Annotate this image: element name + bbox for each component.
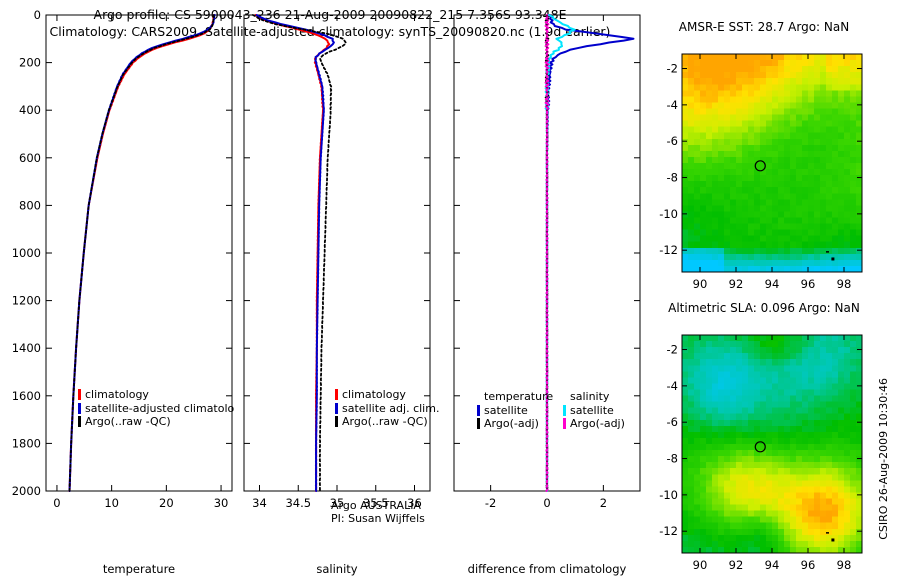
map-cell — [772, 115, 779, 122]
map-cell — [820, 347, 827, 354]
map-cell — [754, 474, 761, 481]
map-cell — [784, 224, 791, 231]
map-cell — [754, 517, 761, 524]
map-cell — [790, 523, 797, 530]
map-cell — [796, 175, 803, 182]
map-cell — [778, 230, 785, 237]
map-cell — [688, 390, 695, 397]
map-cell — [784, 480, 791, 487]
map-cell — [832, 121, 839, 128]
map-cell — [712, 78, 719, 85]
map-cell — [838, 102, 845, 109]
map-cell — [712, 353, 719, 360]
map-cell — [838, 211, 845, 218]
map-cell — [850, 169, 857, 176]
map-cell — [694, 78, 701, 85]
map-cell — [760, 175, 767, 182]
map-cell — [850, 480, 857, 487]
map-cell — [790, 450, 797, 457]
map-cell — [772, 499, 779, 506]
map-cell — [760, 456, 767, 463]
map-cell — [784, 254, 791, 261]
map-cell — [850, 230, 857, 237]
map-cell — [700, 127, 707, 134]
map-cell — [736, 205, 743, 212]
map-cell — [766, 60, 773, 67]
map-cell — [730, 121, 737, 128]
map-cell — [796, 115, 803, 122]
map-cell — [778, 432, 785, 439]
map-cell — [790, 151, 797, 158]
map-cell — [844, 169, 851, 176]
map-cell — [808, 353, 815, 360]
temperature-plot: 0102030020040060080010001200140016001800… — [0, 0, 250, 540]
map-cell — [724, 402, 731, 409]
map-cell — [850, 54, 857, 61]
map-cell — [706, 193, 713, 200]
map-cell — [784, 133, 791, 140]
map-cell — [718, 211, 725, 218]
legend-swatch-satellite-adjusted — [78, 403, 81, 414]
map-cell — [766, 205, 773, 212]
map-cell — [790, 468, 797, 475]
map-cell — [730, 78, 737, 85]
map-cell — [760, 341, 767, 348]
map-cell — [772, 517, 779, 524]
map-cell — [838, 218, 845, 225]
map-cell — [748, 420, 755, 427]
map-cell — [772, 157, 779, 164]
map-cell — [748, 230, 755, 237]
map-cell — [736, 408, 743, 415]
map-cell — [826, 408, 833, 415]
map-cell — [742, 115, 749, 122]
map-cell — [850, 426, 857, 433]
map-cell — [820, 242, 827, 249]
map-cell — [784, 211, 791, 218]
map-cell — [826, 438, 833, 445]
map-cell — [772, 396, 779, 403]
map-cell — [742, 157, 749, 164]
map-cell — [832, 175, 839, 182]
map-cell — [682, 157, 689, 164]
map-cell — [730, 248, 737, 255]
map-cell — [730, 254, 737, 261]
map-cell — [712, 115, 719, 122]
map-cell — [718, 486, 725, 493]
map-cell — [736, 359, 743, 366]
map-cell — [826, 139, 833, 146]
map-cell — [694, 420, 701, 427]
map-cell — [682, 211, 689, 218]
map-cell — [736, 242, 743, 249]
map-cell — [700, 474, 707, 481]
map-cell — [778, 248, 785, 255]
map-cell — [778, 236, 785, 243]
map-cell — [748, 523, 755, 530]
map-cell — [712, 109, 719, 116]
map-cell — [790, 341, 797, 348]
map-cell — [778, 390, 785, 397]
map-cell — [718, 377, 725, 384]
map-cell — [826, 66, 833, 73]
map-cell — [814, 121, 821, 128]
map-cell — [808, 145, 815, 152]
map-cell — [832, 248, 839, 255]
map-cell — [790, 432, 797, 439]
map-cell — [808, 335, 815, 342]
map-cell — [748, 444, 755, 451]
map-cell — [712, 365, 719, 372]
map-cell — [706, 468, 713, 475]
map-cell — [796, 127, 803, 134]
map-cell — [790, 96, 797, 103]
map-cell — [688, 72, 695, 79]
map-cell — [826, 181, 833, 188]
map-cell — [820, 414, 827, 421]
map-cell — [688, 211, 695, 218]
map-cell — [718, 66, 725, 73]
map-cell — [748, 211, 755, 218]
map-cell — [742, 151, 749, 158]
map-cell — [790, 365, 797, 372]
map-cell — [826, 432, 833, 439]
map-cell — [850, 353, 857, 360]
map-cell — [688, 444, 695, 451]
map-cell — [790, 541, 797, 548]
map-cell — [712, 450, 719, 457]
map-cell — [814, 426, 821, 433]
map-cell — [748, 248, 755, 255]
map-cell — [784, 218, 791, 225]
map-cell — [796, 359, 803, 366]
map-cell — [796, 414, 803, 421]
map-cell — [754, 371, 761, 378]
map-cell — [832, 353, 839, 360]
map-cell — [718, 341, 725, 348]
map-cell — [826, 486, 833, 493]
map-cell — [748, 456, 755, 463]
map-cell — [772, 254, 779, 261]
map-cell — [784, 492, 791, 499]
map-cell — [826, 511, 833, 518]
map-cell — [718, 359, 725, 366]
map-cell — [808, 254, 815, 261]
map-cell — [814, 438, 821, 445]
map-cell — [790, 377, 797, 384]
tick-label: 0 — [34, 8, 41, 22]
map-cell — [682, 66, 689, 73]
map-cell — [712, 492, 719, 499]
map-cell — [754, 66, 761, 73]
map-cell — [784, 72, 791, 79]
map-cell — [700, 450, 707, 457]
map-cell — [850, 115, 857, 122]
map-cell — [754, 90, 761, 97]
map-cell — [700, 505, 707, 512]
map-cell — [772, 54, 779, 61]
map-cell — [682, 505, 689, 512]
map-cell — [694, 492, 701, 499]
map-cell — [766, 109, 773, 116]
map-cell — [700, 163, 707, 170]
map-cell — [784, 408, 791, 415]
map-cell — [730, 169, 737, 176]
map-cell — [718, 84, 725, 91]
map-cell — [826, 163, 833, 170]
map-cell — [844, 84, 851, 91]
map-cell — [730, 109, 737, 116]
map-cell — [724, 163, 731, 170]
map-cell — [772, 541, 779, 548]
map-cell — [766, 505, 773, 512]
map-cell — [820, 163, 827, 170]
map-cell — [772, 121, 779, 128]
map-cell — [766, 450, 773, 457]
map-cell — [724, 462, 731, 469]
map-cell — [826, 474, 833, 481]
map-cell — [826, 335, 833, 342]
map-cell — [808, 523, 815, 530]
map-cell — [832, 523, 839, 530]
map-cell — [766, 102, 773, 109]
map-cell — [796, 341, 803, 348]
map-cell — [712, 402, 719, 409]
map-cell — [712, 127, 719, 134]
map-cell — [718, 523, 725, 530]
map-cell — [820, 408, 827, 415]
map-cell — [808, 444, 815, 451]
map-cell — [754, 353, 761, 360]
map-cell — [730, 260, 737, 267]
map-cell — [766, 499, 773, 506]
map-cell — [772, 109, 779, 116]
map-cell — [730, 230, 737, 237]
map-cell — [718, 450, 725, 457]
map-cell — [700, 218, 707, 225]
map-cell — [784, 426, 791, 433]
map-cell — [706, 169, 713, 176]
tick-label: 92 — [729, 558, 744, 572]
map-cell — [688, 505, 695, 512]
tick-label: 92 — [729, 277, 744, 291]
map-cell — [682, 462, 689, 469]
map-cell — [808, 211, 815, 218]
map-cell — [700, 371, 707, 378]
map-cell — [808, 102, 815, 109]
map-cell — [694, 218, 701, 225]
map-cell — [754, 383, 761, 390]
map-cell — [730, 511, 737, 518]
map-cell — [832, 115, 839, 122]
map-cell — [844, 462, 851, 469]
legend-swatch-climatology — [335, 389, 338, 400]
map-cell — [712, 60, 719, 67]
map-cell — [784, 90, 791, 97]
map-cell — [766, 517, 773, 524]
map-cell — [778, 492, 785, 499]
map-cell — [838, 109, 845, 116]
map-cell — [742, 66, 749, 73]
map-cell — [724, 78, 731, 85]
map-cell — [724, 456, 731, 463]
map-cell — [796, 90, 803, 97]
map-cell — [712, 224, 719, 231]
map-cell — [826, 359, 833, 366]
map-cell — [838, 341, 845, 348]
legend-item: climatology — [335, 388, 439, 402]
map-cell — [736, 517, 743, 524]
map-cell — [760, 260, 767, 267]
map-cell — [844, 242, 851, 249]
map-cell — [730, 377, 737, 384]
map-cell — [832, 396, 839, 403]
map-cell — [814, 450, 821, 457]
map-cell — [730, 365, 737, 372]
map-cell — [802, 444, 809, 451]
map-cell — [772, 359, 779, 366]
map-cell — [832, 205, 839, 212]
map-cell — [772, 151, 779, 158]
map-cell — [706, 248, 713, 255]
map-cell — [694, 432, 701, 439]
map-cell — [844, 541, 851, 548]
map-cell — [850, 535, 857, 542]
map-cell — [832, 505, 839, 512]
map-cell — [850, 517, 857, 524]
map-cell — [808, 175, 815, 182]
map-cell — [694, 444, 701, 451]
map-cell — [700, 402, 707, 409]
legend-label-sal-argo: Argo(-adj) — [570, 417, 625, 431]
map-cell — [850, 236, 857, 243]
map-cell — [712, 151, 719, 158]
map-cell — [724, 60, 731, 67]
map-cell — [724, 199, 731, 206]
map-cell — [820, 541, 827, 548]
map-cell — [688, 426, 695, 433]
map-cell — [724, 260, 731, 267]
map-cell — [694, 541, 701, 548]
map-cell — [772, 175, 779, 182]
map-cell — [712, 529, 719, 536]
map-cell — [826, 127, 833, 134]
map-cell — [682, 371, 689, 378]
map-cell — [772, 408, 779, 415]
map-cell — [778, 420, 785, 427]
map-cell — [700, 199, 707, 206]
map-cell — [808, 260, 815, 267]
sla-map-title: Altimetric SLA: 0.096 Argo: NaN — [664, 301, 864, 315]
map-cell — [766, 492, 773, 499]
map-cell — [844, 205, 851, 212]
map-cell — [724, 109, 731, 116]
map-cell — [742, 260, 749, 267]
map-cell — [784, 248, 791, 255]
map-cell — [802, 523, 809, 530]
map-cell — [766, 535, 773, 542]
map-cell — [832, 492, 839, 499]
map-cell — [832, 486, 839, 493]
map-cell — [754, 505, 761, 512]
map-cell — [844, 109, 851, 116]
map-cell — [688, 414, 695, 421]
map-cell — [694, 84, 701, 91]
map-cell — [766, 133, 773, 140]
map-cell — [844, 145, 851, 152]
map-cell — [784, 199, 791, 206]
map-cell — [724, 511, 731, 518]
map-cell — [832, 414, 839, 421]
map-cell — [796, 254, 803, 261]
map-cell — [838, 78, 845, 85]
map-cell — [688, 96, 695, 103]
map-cell — [826, 230, 833, 237]
map-cell — [760, 462, 767, 469]
map-cell — [682, 242, 689, 249]
map-cell — [778, 365, 785, 372]
map-cell — [760, 492, 767, 499]
map-cell — [760, 541, 767, 548]
map-cell — [760, 230, 767, 237]
map-cell — [790, 396, 797, 403]
map-cell — [808, 54, 815, 61]
map-cell — [724, 535, 731, 542]
map-cell — [724, 426, 731, 433]
map-cell — [706, 359, 713, 366]
map-cell — [742, 347, 749, 354]
map-cell — [730, 133, 737, 140]
map-cell — [730, 96, 737, 103]
map-cell — [748, 109, 755, 116]
map-cell — [760, 408, 767, 415]
map-cell — [850, 462, 857, 469]
map-cell — [724, 377, 731, 384]
map-cell — [814, 432, 821, 439]
map-cell — [832, 450, 839, 457]
map-cell — [778, 511, 785, 518]
tick-label: 96 — [801, 277, 816, 291]
map-cell — [784, 181, 791, 188]
legend-swatch-satellite-adjusted — [335, 403, 338, 414]
map-cell — [850, 218, 857, 225]
map-cell — [838, 541, 845, 548]
map-cell — [712, 420, 719, 427]
map-cell — [718, 115, 725, 122]
map-cell — [706, 84, 713, 91]
map-cell — [820, 133, 827, 140]
map-cell — [706, 157, 713, 164]
map-cell — [742, 396, 749, 403]
map-cell — [850, 127, 857, 134]
map-cell — [808, 541, 815, 548]
map-cell — [796, 54, 803, 61]
map-cell — [778, 66, 785, 73]
map-cell — [784, 169, 791, 176]
map-cell — [682, 511, 689, 518]
map-cell — [784, 462, 791, 469]
map-cell — [772, 242, 779, 249]
map-cell — [766, 224, 773, 231]
map-cell — [778, 505, 785, 512]
map-cell — [736, 402, 743, 409]
map-cell — [700, 529, 707, 536]
map-cell — [694, 151, 701, 158]
map-cell — [688, 181, 695, 188]
map-cell — [730, 193, 737, 200]
tick-label: -10 — [659, 488, 678, 502]
map-cell — [706, 224, 713, 231]
